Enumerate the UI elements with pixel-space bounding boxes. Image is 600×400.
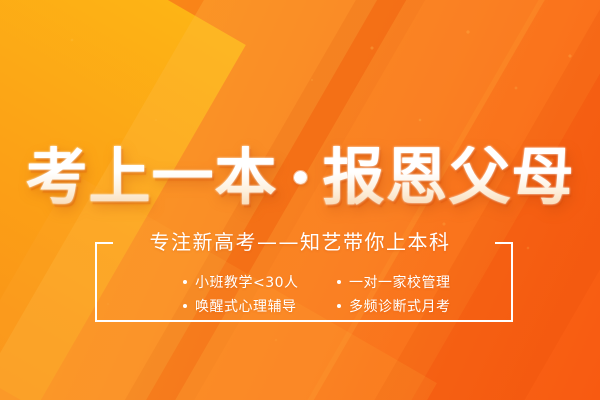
feature-list: 小班教学<30人 一对一家校管理 唤醒式心理辅导 多频诊断式月考 [95, 266, 513, 318]
promo-banner: 考上一本 报恩父母 专注新高考——知艺带你上本科 小班教学<30人 一对一家校管… [0, 0, 600, 400]
feature-item-label: 一对一家校管理 [349, 272, 451, 292]
feature-item: 唤醒式心理辅导 [95, 294, 304, 318]
feature-item-label: 小班教学<30人 [195, 272, 299, 292]
feature-item: 一对一家校管理 [304, 270, 513, 294]
bullet-dot-icon [337, 280, 341, 284]
bullet-dot-icon [183, 304, 187, 308]
feature-item-label: 唤醒式心理辅导 [195, 296, 297, 316]
bullet-dot-icon [337, 304, 341, 308]
subtitle: 专注新高考——知艺带你上本科 [0, 230, 600, 254]
feature-item: 多频诊断式月考 [304, 294, 513, 318]
headline-left-text: 考上一本 [25, 146, 277, 208]
bullet-dot-icon [183, 280, 187, 284]
feature-item-label: 多频诊断式月考 [349, 296, 451, 316]
feature-item: 小班教学<30人 [95, 270, 304, 294]
headline-separator-dot [294, 171, 307, 184]
headline: 考上一本 报恩父母 [0, 138, 600, 216]
headline-right-text: 报恩父母 [323, 146, 575, 208]
